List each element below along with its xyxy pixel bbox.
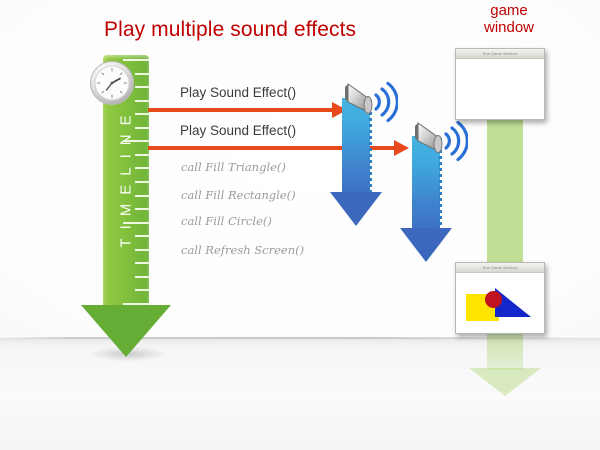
game-window-empty-canvas — [456, 59, 544, 119]
orange-arrow-1 — [148, 108, 348, 112]
page-title: Play multiple sound effects — [104, 18, 356, 42]
game-window-label-line1: game — [454, 2, 564, 19]
game-window-shapes[interactable]: Sub Game Window — [455, 262, 545, 334]
slide-canvas: Play multiple sound effects game window … — [0, 0, 600, 450]
wall-clock-icon — [89, 60, 135, 106]
game-window-shapes-canvas — [456, 273, 544, 333]
code-line-play-sound-2: Play Sound Effect() — [180, 123, 296, 138]
game-window-label-line2: window — [454, 19, 564, 36]
orange-arrow-1-shaft — [148, 108, 333, 112]
sound-arrow-1-head — [330, 192, 382, 226]
code-line-play-sound-1: Play Sound Effect() — [180, 85, 296, 100]
speaker-icon — [414, 117, 468, 163]
timeline-label: TIMELINE — [118, 106, 135, 256]
call-line-refresh-screen: call Refresh Screen() — [181, 243, 304, 257]
game-window-shapes-titlebar: Sub Game Window — [456, 263, 544, 273]
game-window-empty[interactable]: Sub Game Window — [455, 48, 545, 120]
call-line-fill-triangle: call Fill Triangle() — [181, 160, 286, 174]
game-window-empty-titlebar: Sub Game Window — [456, 49, 544, 59]
timeline-arrow: TIMELINE — [77, 55, 173, 395]
timeline-arrowhead — [81, 305, 171, 357]
game-window-flow-arrowhead — [469, 368, 541, 396]
game-window-label: game window — [454, 2, 564, 36]
call-line-fill-rectangle: call Fill Rectangle() — [181, 188, 296, 202]
shape-red-circle — [485, 291, 502, 308]
call-line-fill-circle: call Fill Circle() — [181, 214, 272, 228]
sound-arrow-2-head — [400, 228, 452, 262]
speaker-icon — [344, 78, 398, 124]
